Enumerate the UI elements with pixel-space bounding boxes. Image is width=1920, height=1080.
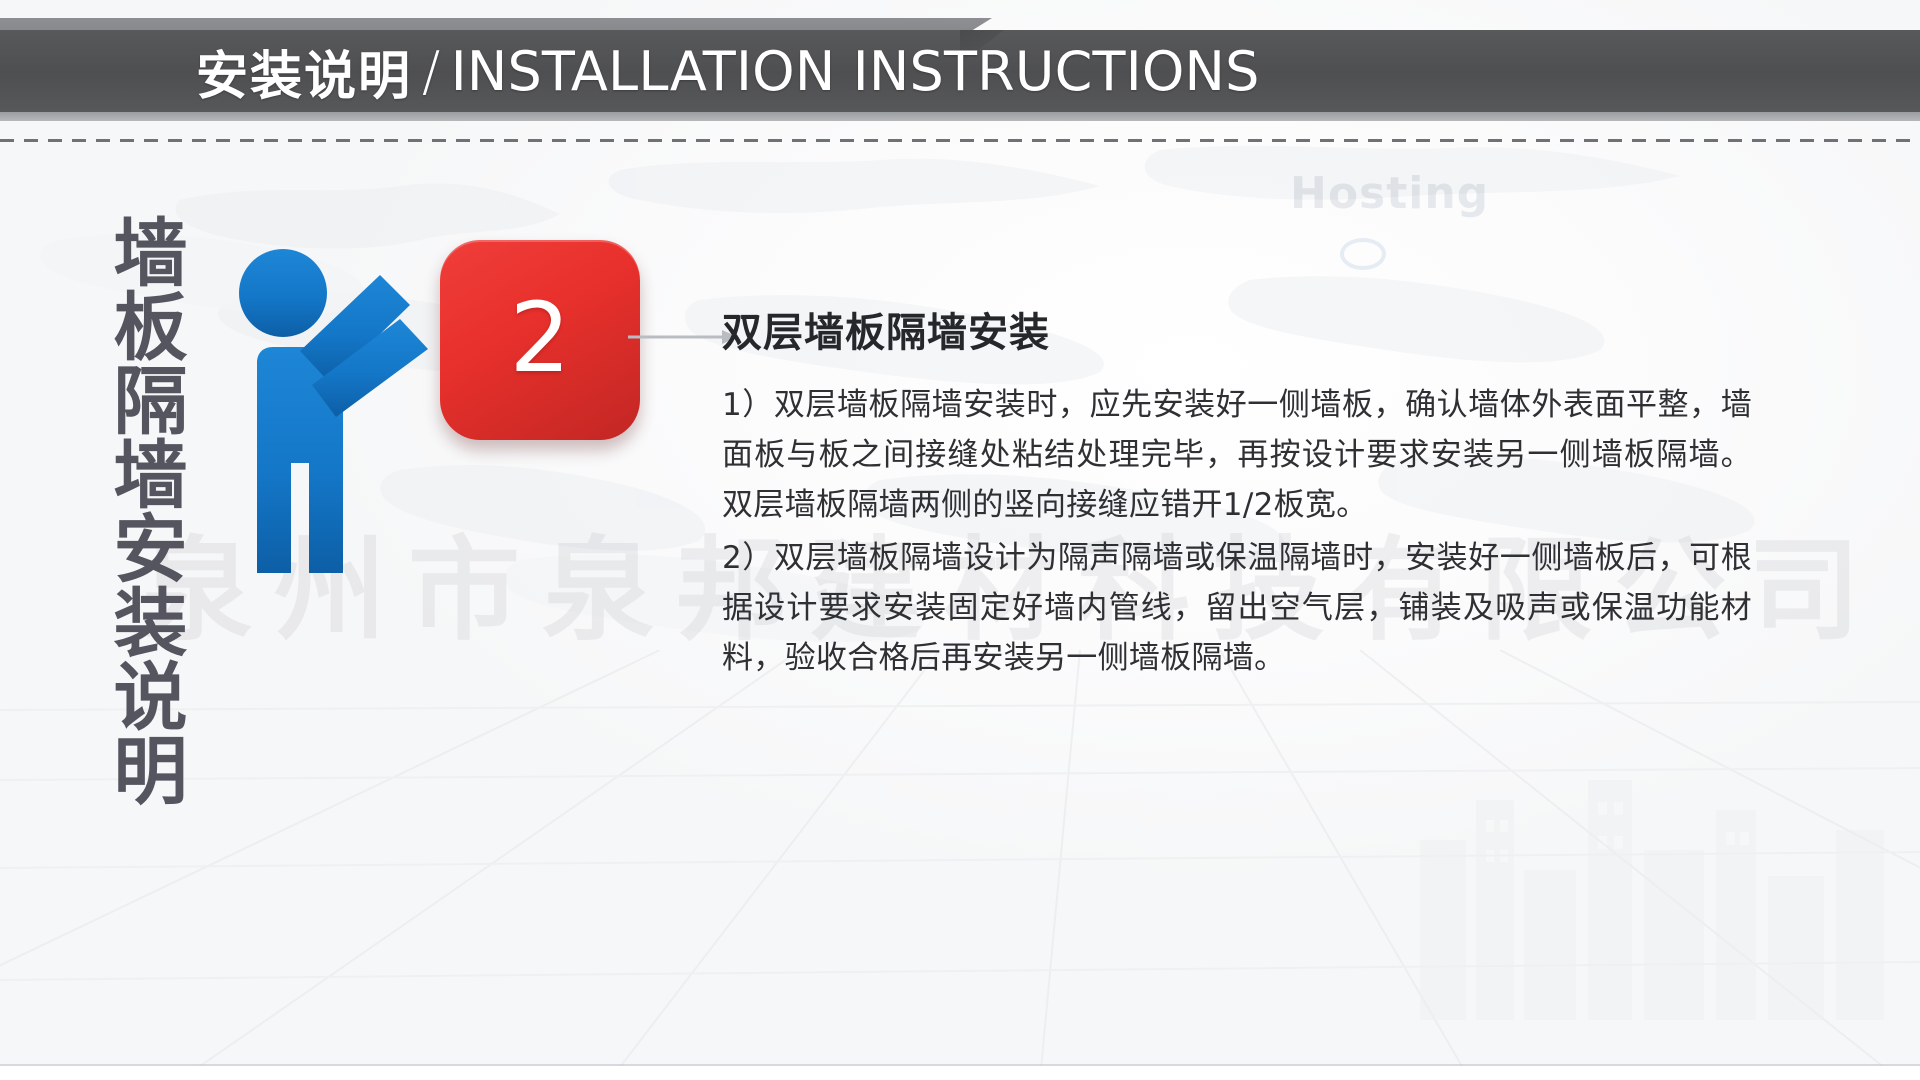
step-number-badge: 2 xyxy=(440,240,640,440)
page-title-cn: 安装说明 xyxy=(196,34,412,109)
hosting-watermark-label: Hosting xyxy=(1290,168,1489,219)
perspective-grid-background xyxy=(0,650,1920,1080)
vertical-section-title: 墙板隔墙安装说明 xyxy=(75,195,185,825)
instruction-heading: 双层墙板隔墙安装 xyxy=(722,300,1752,358)
slide-root: 安装说明 / INSTALLATION INSTRUCTIONS Hosting… xyxy=(0,0,1920,1080)
page-title-separator: / xyxy=(412,40,451,103)
dashed-divider xyxy=(0,139,1920,142)
footer-bar xyxy=(0,1066,1920,1080)
worker-pictogram-icon xyxy=(208,215,448,595)
hosting-ring-icon xyxy=(1340,238,1386,270)
header-banner: 安装说明 / INSTALLATION INSTRUCTIONS xyxy=(0,0,1920,132)
step-number: 2 xyxy=(509,290,570,386)
instruction-paragraph-1: 1）双层墙板隔墙安装时，应先安装好一侧墙板，确认墙体外表面平整，墙面板与板之间接… xyxy=(722,380,1752,531)
page-title-en: INSTALLATION INSTRUCTIONS xyxy=(451,40,1260,103)
instruction-paragraph-2: 2）双层墙板隔墙设计为隔声隔墙或保温隔墙时，安装好一侧墙板后，可根据设计要求安装… xyxy=(722,533,1752,684)
instruction-content: 双层墙板隔墙安装 1）双层墙板隔墙安装时，应先安装好一侧墙板，确认墙体外表面平整… xyxy=(722,300,1752,683)
page-title: 安装说明 / INSTALLATION INSTRUCTIONS xyxy=(196,30,1260,112)
